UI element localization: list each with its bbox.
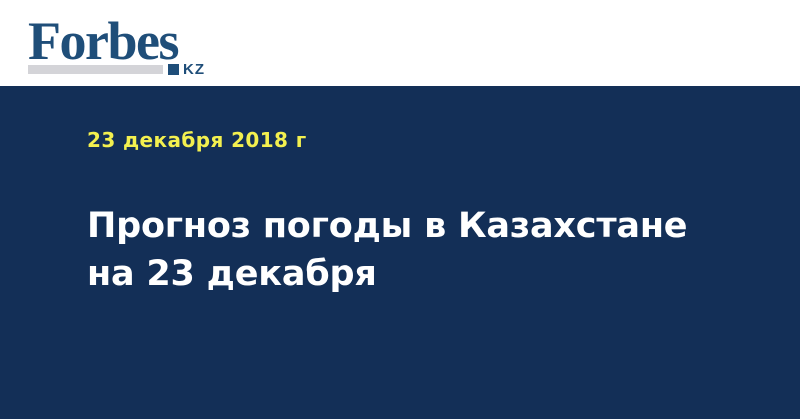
logo-square-icon [168, 64, 179, 75]
logo-country-code: KZ [183, 62, 205, 77]
article-date: 23 декабря 2018 г [87, 128, 307, 152]
site-header: Forbes KZ [0, 0, 800, 86]
article-title: Прогноз погоды в Казахстане на 23 декабр… [87, 202, 727, 298]
page-root: Forbes KZ 23 декабря 2018 г Прогноз пого… [0, 0, 800, 419]
logo-wordmark: Forbes [28, 14, 178, 68]
forbes-kz-logo[interactable]: Forbes KZ [28, 14, 218, 76]
article-banner: 23 декабря 2018 г Прогноз погоды в Казах… [0, 86, 800, 419]
logo-underbar-decoration [28, 65, 163, 74]
